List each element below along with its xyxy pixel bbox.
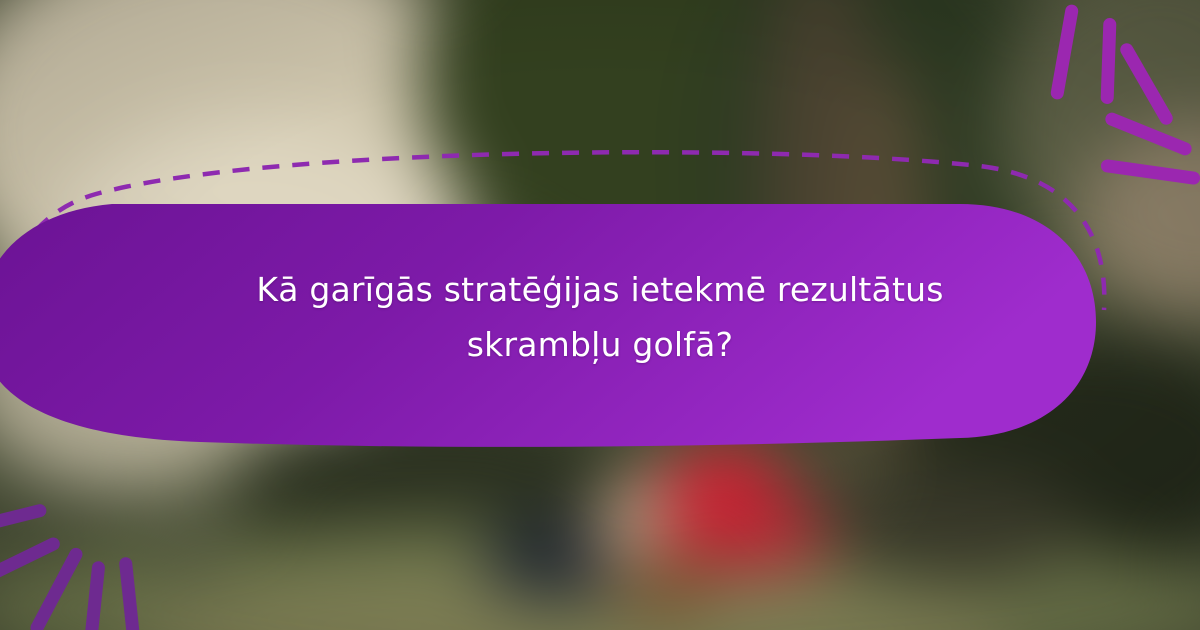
- page-title: Kā garīgās stratēģijas ietekmē rezultātu…: [150, 262, 1050, 372]
- social-card: Kā garīgās stratēģijas ietekmē rezultātu…: [0, 0, 1200, 630]
